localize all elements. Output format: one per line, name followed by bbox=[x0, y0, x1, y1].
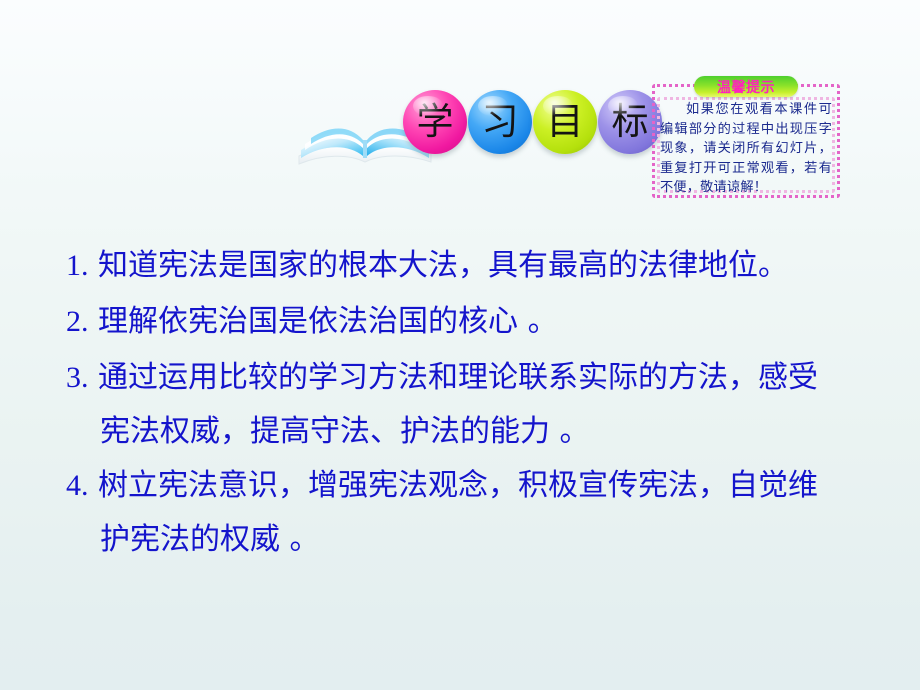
title-char-3: 目 bbox=[547, 103, 584, 140]
tip-box-body-text: 如果您在观看本课件可编辑部分的过程中出现压字现象，请关闭所有幻灯片，重复打开可正… bbox=[660, 100, 832, 198]
title-block: 学 习 目 标 bbox=[295, 82, 615, 178]
goal-item-4-text: 树立宪法意识，增强宪法观念，积极宣传宪法，自觉维 bbox=[89, 468, 819, 503]
goal-item-3-text: 通过运用比较的学习方法和理论联系实际的方法，感受 bbox=[89, 360, 819, 395]
tip-box: 温馨提示 如果您在观看本课件可编辑部分的过程中出现压字现象，请关闭所有幻灯片，重… bbox=[652, 76, 840, 198]
goal-item-1-number: 1. bbox=[66, 249, 89, 282]
slide-canvas: 学 习 目 标 温馨提示 如果您在观看本课件可编辑部分的过程中出现压字现象，请关… bbox=[0, 0, 920, 690]
goal-item-1-text: 知道宪法是国家的根本大法，具有最高的法律地位。 bbox=[89, 248, 789, 283]
title-char-2: 习 bbox=[482, 103, 519, 140]
title-sphere-2: 习 bbox=[468, 90, 532, 154]
goal-item-2: 2. 理解依宪治国是依法治国的核心 。 bbox=[66, 294, 866, 350]
title-sphere-1: 学 bbox=[403, 90, 467, 154]
goal-item-2-text: 理解依宪治国是依法治国的核心 。 bbox=[89, 304, 558, 339]
goal-item-2-number: 2. bbox=[66, 305, 89, 338]
title-char-4: 标 bbox=[612, 103, 649, 140]
goal-item-4: 4. 树立宪法意识，增强宪法观念，积极宣传宪法，自觉维 bbox=[66, 458, 866, 514]
goal-item-3-number: 3. bbox=[66, 361, 89, 394]
goal-item-4-text-line2: 护宪法的权威 。 bbox=[66, 514, 866, 566]
goal-item-3: 3. 通过运用比较的学习方法和理论联系实际的方法，感受 bbox=[66, 350, 866, 406]
goal-item-4-number: 4. bbox=[66, 469, 89, 502]
title-char-1: 学 bbox=[417, 103, 454, 140]
goal-item-3-text-line2: 宪法权威，提高守法、护法的能力 。 bbox=[66, 406, 866, 458]
title-sphere-3: 目 bbox=[533, 90, 597, 154]
tip-box-header-label: 温馨提示 bbox=[717, 77, 775, 97]
tip-box-header: 温馨提示 bbox=[694, 76, 798, 97]
goal-item-1: 1. 知道宪法是国家的根本大法，具有最高的法律地位。 bbox=[66, 238, 866, 294]
goal-list: 1. 知道宪法是国家的根本大法，具有最高的法律地位。 2. 理解依宪治国是依法治… bbox=[66, 238, 866, 566]
